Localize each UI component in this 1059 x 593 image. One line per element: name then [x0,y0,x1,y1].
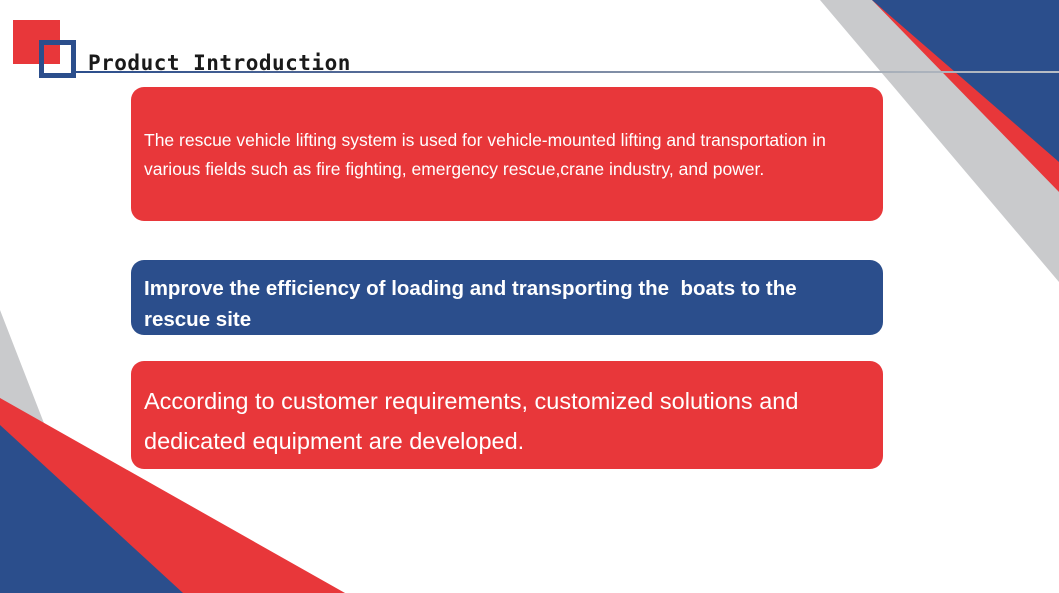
content-box-customization: According to customer requirements, cust… [131,361,883,469]
efficiency-text: Improve the efficiency of loading and tr… [144,273,853,335]
title-underline-rule [72,71,1059,73]
blue-corner-triangle-top-right [872,0,1059,162]
description-text: The rescue vehicle lifting system is use… [144,126,850,184]
content-box-description: The rescue vehicle lifting system is use… [131,87,883,221]
customization-text: According to customer requirements, cust… [144,381,853,461]
blue-square-outline-icon [39,40,76,78]
slide-canvas: Product Introduction The rescue vehicle … [0,0,1059,593]
content-box-efficiency: Improve the efficiency of loading and tr… [131,260,883,335]
